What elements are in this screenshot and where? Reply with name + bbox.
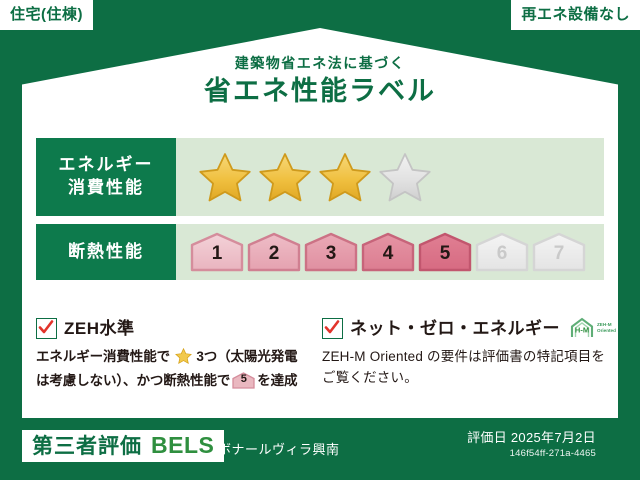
renewable-equipment-tag: 再エネ設備なし [511, 0, 640, 30]
zeh-body-part3: を達成 [257, 373, 297, 388]
insulation-grade-badge: 5 [418, 232, 472, 272]
insulation-grade-badge: 4 [361, 232, 415, 272]
zeh-m-caption-line1: ZEH-M [597, 322, 612, 327]
insulation-grade-badge: 3 [304, 232, 358, 272]
insulation-grade-badge: 6 [475, 232, 529, 272]
label-footer: 第三者評価 BELS ボナールヴィラ興南 評価日 2025年7月2日 146f5… [0, 418, 640, 480]
zeh-standard-note: ZEH水準 エネルギー消費性能で 3つ（太陽光発電は考慮しない）、かつ断熱性能で… [36, 316, 308, 392]
inline-grade-badge: 5 [232, 372, 255, 389]
zeh-m-house-icon: H-M ZEH-M Oriented [569, 317, 616, 339]
insulation-grade-badge: 7 [532, 232, 586, 272]
insulation-grade-value: 5 [440, 244, 451, 272]
insulation-grade-value: 4 [383, 244, 394, 272]
bels-label-jp: 第三者評価 [32, 436, 142, 457]
zeh-body-part1: エネルギー消費性能で [36, 349, 170, 364]
energy-performance-row: エネルギー 消費性能 [36, 138, 604, 216]
title-subtitle: 建築物省エネ法に基づく [0, 56, 640, 70]
page-title: 省エネ性能ラベル [0, 78, 640, 105]
insulation-grade-value: 6 [497, 244, 508, 272]
insulation-performance-label: 断熱性能 [36, 224, 176, 280]
evaluation-info: 評価日 2025年7月2日 146f54ff-271a-4465 [467, 430, 596, 460]
inline-grade-value: 5 [232, 371, 255, 388]
zeh-standard-body: エネルギー消費性能で 3つ（太陽光発電は考慮しない）、かつ断熱性能で 5 を達成 [36, 347, 308, 392]
check-icon [322, 318, 343, 339]
notes-section: ZEH水準 エネルギー消費性能で 3つ（太陽光発電は考慮しない）、かつ断熱性能で… [36, 316, 608, 392]
zeh-standard-title: ZEH水準 [64, 320, 135, 337]
evaluation-date: 評価日 2025年7月2日 [467, 430, 596, 447]
svg-text:H-M: H-M [575, 326, 589, 335]
net-zero-energy-body: ZEH-M Oriented の要件は評価書の特記項目をご覧ください。 [322, 347, 608, 389]
star-icon [198, 151, 252, 203]
zeh-standard-heading: ZEH水準 [36, 316, 308, 340]
insulation-grade-value: 3 [326, 244, 337, 272]
net-zero-energy-note: ネット・ゼロ・エネルギー H-M ZEH-M Oriented ZEH-M Or… [322, 316, 608, 392]
star-icon [378, 151, 432, 203]
bels-energy-label: 住宅(住棟) 再エネ設備なし 建築物省エネ法に基づく 省エネ性能ラベル エネルギ… [0, 0, 640, 480]
insulation-grade-badge: 2 [247, 232, 301, 272]
insulation-grade-badge: 1 [190, 232, 244, 272]
building-name: ボナールヴィラ興南 [218, 439, 340, 458]
insulation-grade-value: 7 [554, 244, 565, 272]
energy-label-line1: エネルギー [59, 154, 154, 177]
net-zero-energy-title: ネット・ゼロ・エネルギー [350, 320, 560, 337]
net-zero-energy-heading: ネット・ゼロ・エネルギー H-M ZEH-M Oriented [322, 316, 608, 340]
bels-label-en: BELS [151, 434, 214, 457]
evaluation-id: 146f54ff-271a-4465 [467, 447, 596, 460]
star-icon [318, 151, 372, 203]
check-icon [36, 318, 57, 339]
insulation-performance-row: 断熱性能 1234567 [36, 224, 604, 280]
building-type-tag: 住宅(住棟) [0, 0, 93, 30]
insulation-label-text: 断熱性能 [68, 241, 144, 264]
star-icon [171, 352, 195, 367]
zeh-m-logo-caption: ZEH-M Oriented [597, 322, 616, 333]
energy-star-rating [176, 138, 604, 216]
insulation-grade-value: 2 [269, 244, 280, 272]
star-icon [258, 151, 312, 203]
insulation-grade-value: 1 [212, 244, 223, 272]
performance-rows: エネルギー 消費性能 断熱性能 1234567 [36, 138, 604, 288]
insulation-grade-scale: 1234567 [176, 224, 604, 280]
bels-logo: 第三者評価 BELS [22, 430, 224, 462]
zeh-m-caption-line2: Oriented [597, 328, 616, 333]
energy-performance-label: エネルギー 消費性能 [36, 138, 176, 216]
label-title-block: 建築物省エネ法に基づく 省エネ性能ラベル [0, 56, 640, 105]
energy-label-line2: 消費性能 [68, 177, 144, 200]
